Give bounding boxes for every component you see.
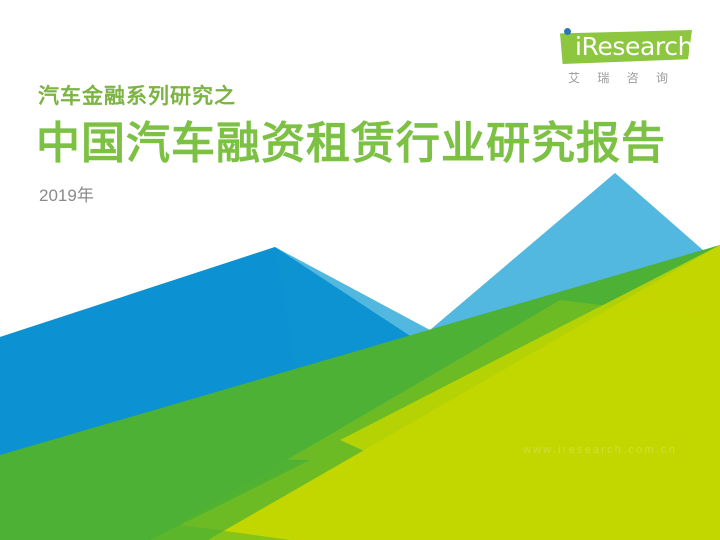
iresearch-logo: iResearch 艾 瑞 咨 询 [542, 26, 692, 96]
page-title: 中国汽车融资租赁行业研究报告 [36, 117, 666, 171]
logo-i-stem [564, 39, 571, 63]
logo-chinese-name: 艾 瑞 咨 询 [568, 70, 675, 86]
logo-i-dot-icon [564, 28, 571, 35]
report-year: 2019年 [39, 184, 94, 208]
logo-wordmark: iResearch [575, 32, 693, 62]
logo-mark: iResearch [542, 26, 692, 68]
report-series-label: 汽车金融系列研究之 [38, 83, 236, 111]
report-cover-page: iResearch 艾 瑞 咨 询 汽车金融系列研究之 中国汽车融资租赁行业研究… [0, 0, 720, 540]
